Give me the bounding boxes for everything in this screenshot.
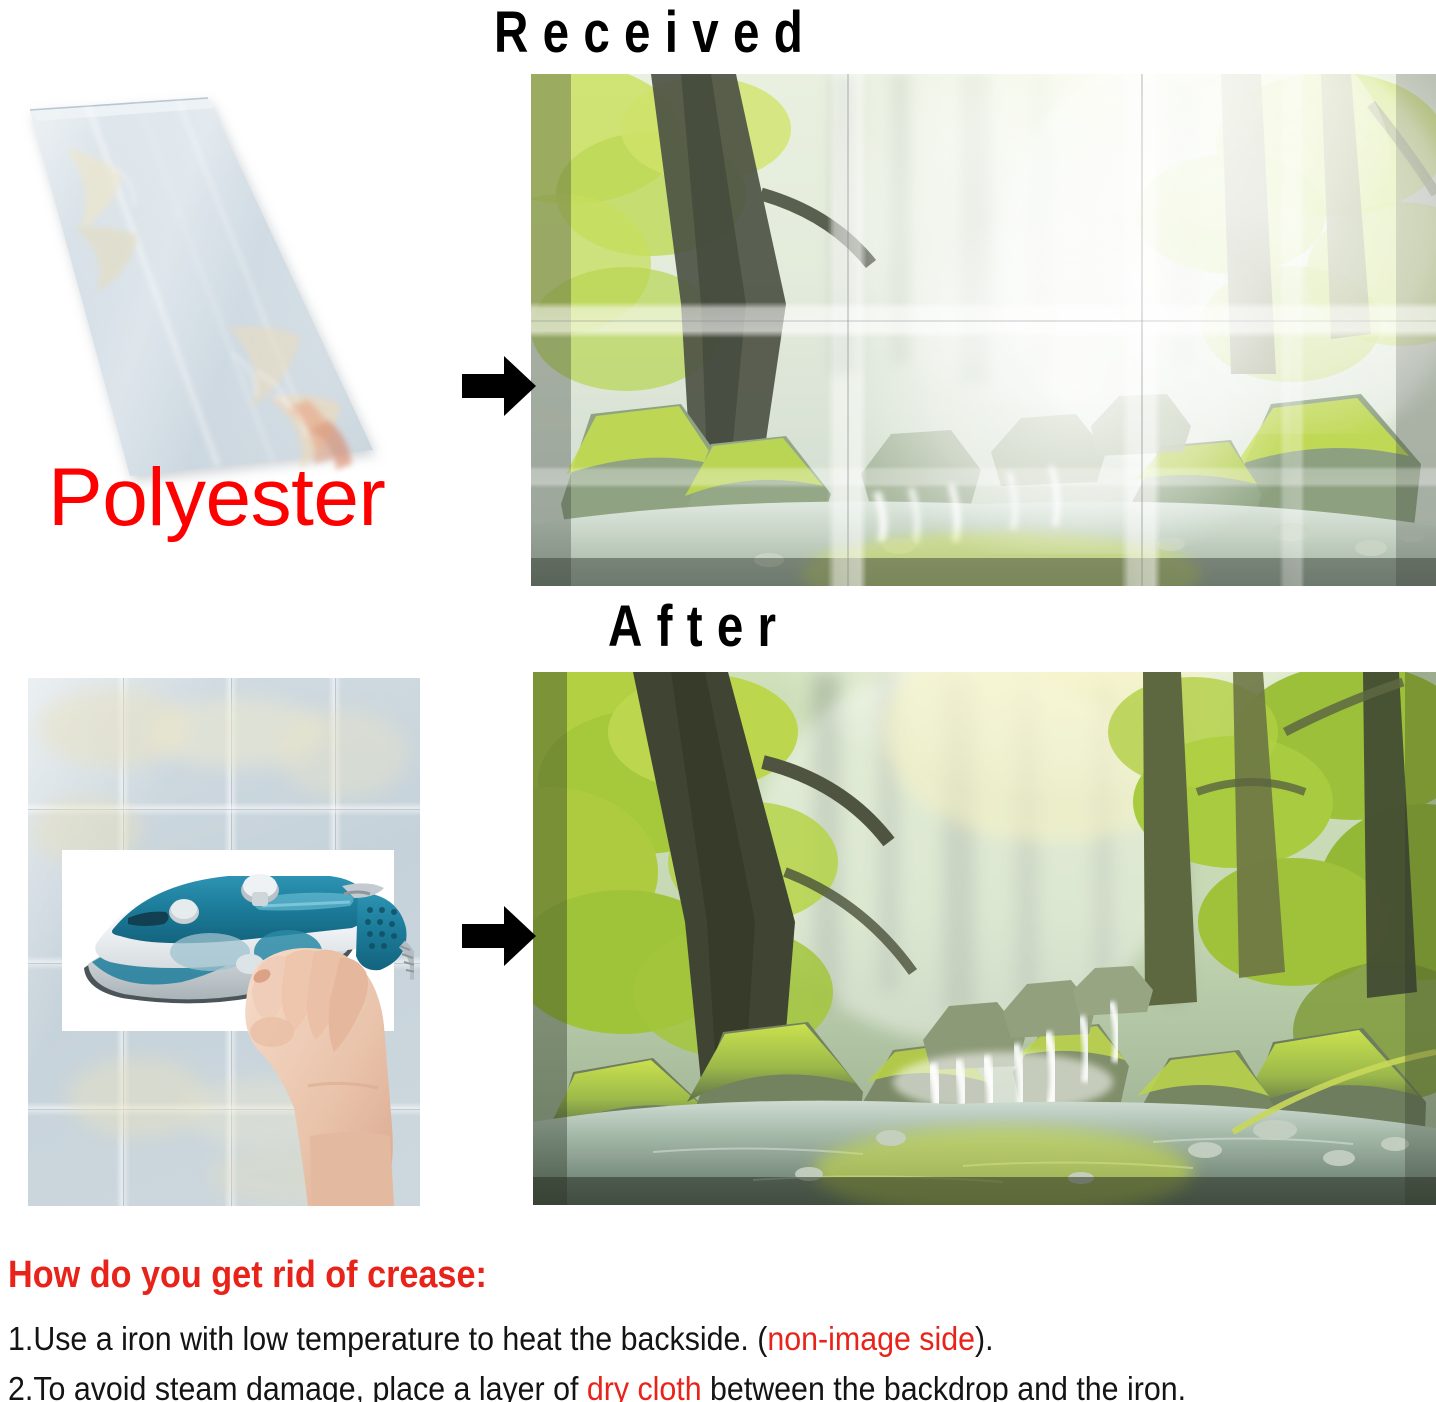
iron-photo-plate bbox=[62, 850, 394, 1031]
after-backdrop-photo bbox=[533, 672, 1436, 1205]
folded-fabric-illustration bbox=[18, 78, 428, 493]
instructions-block: How do you get rid of crease: 1.Use a ir… bbox=[8, 1252, 1436, 1402]
instruction-2-prefix: 2.To avoid steam damage, place a layer o… bbox=[8, 1370, 587, 1402]
instruction-2-suffix: between the backdrop and the iron. bbox=[702, 1370, 1186, 1402]
instruction-1-prefix: 1.Use a iron with low temperature to hea… bbox=[8, 1320, 767, 1357]
received-backdrop-photo bbox=[531, 74, 1436, 586]
right-arrow-icon bbox=[460, 902, 538, 970]
instruction-1-suffix: ). bbox=[975, 1320, 994, 1357]
product-infographic: Received bbox=[0, 0, 1436, 1402]
forest-stream-scene-smooth bbox=[533, 672, 1436, 1205]
instructions-title: How do you get rid of crease: bbox=[8, 1252, 1293, 1298]
instruction-2-highlight: dry cloth bbox=[587, 1370, 702, 1402]
instruction-line-2: 2.To avoid steam damage, place a layer o… bbox=[8, 1364, 1322, 1402]
after-heading: After bbox=[608, 596, 790, 658]
polyester-label: Polyester bbox=[48, 455, 385, 541]
received-heading: Received bbox=[494, 2, 817, 64]
instruction-1-highlight: non-image side bbox=[767, 1320, 975, 1357]
forest-stream-scene-creased bbox=[531, 74, 1436, 586]
folded-fabric-swatch bbox=[18, 78, 428, 493]
instruction-line-1: 1.Use a iron with low temperature to hea… bbox=[8, 1314, 1322, 1364]
right-arrow-icon bbox=[460, 352, 538, 420]
